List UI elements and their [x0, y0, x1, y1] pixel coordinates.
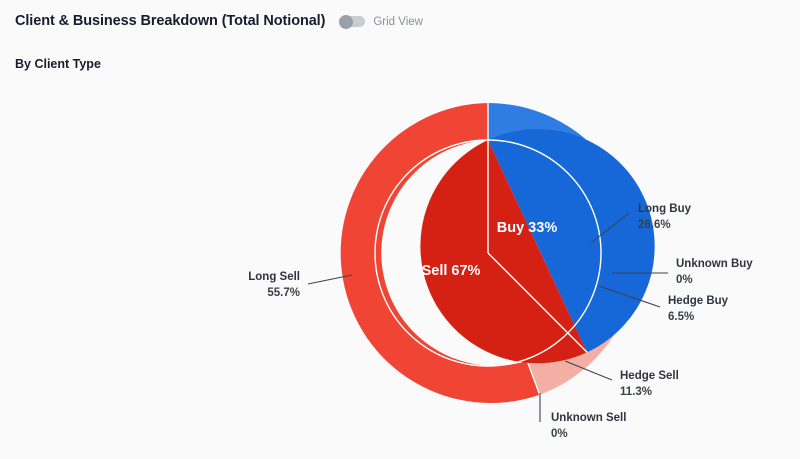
- donut-chart-container: Buy 33% Sell 67% Long Buy 26.6% Unknown …: [0, 80, 800, 459]
- callout-unknown-sell-value: 0%: [551, 428, 568, 440]
- callout-unknown-buy-value: 0%: [676, 274, 693, 286]
- callout-long-sell-name: Long Sell: [248, 271, 300, 283]
- callout-hedge-sell-value: 11.3%: [620, 386, 652, 398]
- callout-long-buy-value: 26.6%: [638, 219, 671, 231]
- callout-hedge-buy-value: 6.5%: [668, 311, 694, 323]
- grid-view-toggle[interactable]: Grid View: [339, 16, 423, 28]
- page-title: Client & Business Breakdown (Total Notio…: [15, 13, 325, 29]
- inner-pie: [375, 129, 655, 366]
- section-subtitle: By Client Type: [15, 57, 101, 71]
- callout-long-sell: Long Sell 55.7%: [248, 271, 352, 299]
- grid-view-label: Grid View: [373, 16, 423, 28]
- callout-unknown-sell: Unknown Sell 0%: [540, 393, 626, 440]
- toggle-switch-icon[interactable]: [339, 16, 365, 27]
- callout-long-sell-value: 55.7%: [267, 287, 300, 299]
- panel-top-divider: [0, 0, 800, 5]
- callout-hedge-sell-name: Hedge Sell: [620, 370, 679, 382]
- inner-label-buy: Buy 33%: [497, 220, 558, 236]
- callout-unknown-sell-name: Unknown Sell: [551, 412, 626, 424]
- callout-hedge-buy-name: Hedge Buy: [668, 295, 729, 307]
- callout-unknown-buy-name: Unknown Buy: [676, 258, 753, 270]
- inner-label-sell: Sell 67%: [422, 263, 481, 279]
- nested-donut-chart: Buy 33% Sell 67% Long Buy 26.6% Unknown …: [0, 80, 800, 459]
- toggle-knob: [339, 15, 353, 29]
- callout-long-buy-name: Long Buy: [638, 203, 692, 215]
- chart-panel: Client & Business Breakdown (Total Notio…: [0, 0, 800, 459]
- panel-header: Client & Business Breakdown (Total Notio…: [15, 13, 423, 29]
